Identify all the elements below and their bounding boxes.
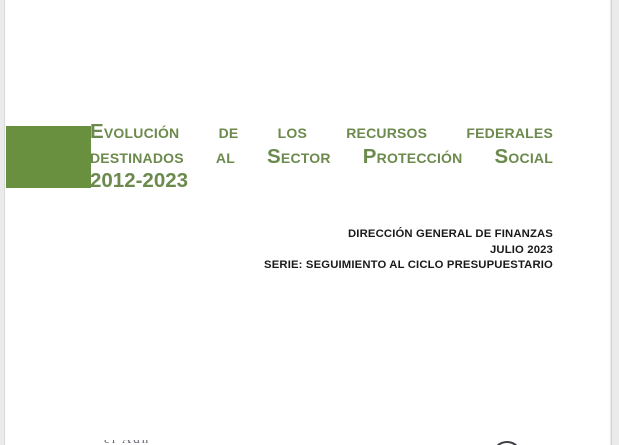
subtitle-series: SERIE: SEGUIMIENTO AL CICLO PRESUPUESTAR… bbox=[185, 258, 553, 274]
page-edge-shadow bbox=[609, 0, 611, 445]
title-line-1: Evolución de los recursos federales bbox=[90, 120, 553, 145]
subtitle-department: DIRECCIÓN GENERAL DE FINANZAS bbox=[185, 227, 553, 243]
title-word: al bbox=[216, 145, 235, 170]
title-word: Sector bbox=[267, 145, 331, 170]
title-word: Protección bbox=[363, 145, 463, 170]
footer-logo-arc-icon bbox=[492, 441, 522, 445]
document-viewport: Evolución de los recursos federales dest… bbox=[0, 0, 619, 445]
page-title: Evolución de los recursos federales dest… bbox=[90, 120, 553, 194]
title-word: federales bbox=[466, 120, 553, 145]
title-word: Social bbox=[495, 145, 553, 170]
document-page: Evolución de los recursos federales dest… bbox=[4, 0, 612, 445]
footer-cropped-text: el Adn bbox=[104, 440, 156, 445]
footer-cropped-text-label: el Adn bbox=[104, 440, 156, 445]
title-line-2: destinados al Sector Protección Social bbox=[90, 145, 553, 170]
subtitle-date: JULIO 2023 bbox=[185, 243, 553, 259]
title-line-3-years: 2012-2023 bbox=[90, 169, 553, 194]
title-word: recursos bbox=[346, 120, 427, 145]
title-word: de bbox=[219, 120, 239, 145]
green-accent-block bbox=[6, 126, 91, 188]
title-word: destinados bbox=[90, 145, 184, 170]
footer-logo-icon bbox=[492, 440, 522, 445]
title-word: los bbox=[278, 120, 307, 145]
title-word: Evolución bbox=[90, 120, 179, 145]
subtitle-block: DIRECCIÓN GENERAL DE FINANZAS JULIO 2023… bbox=[185, 227, 553, 274]
